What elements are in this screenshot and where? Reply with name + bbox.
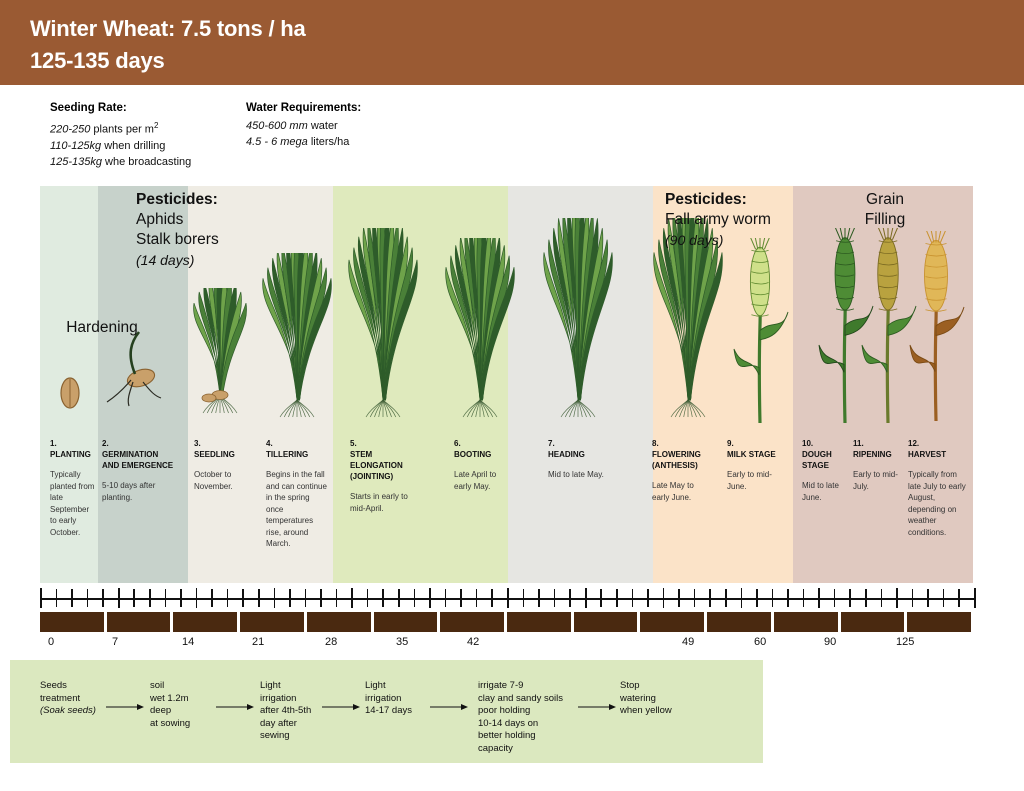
- timeline-ruler: 071421283542496090125: [0, 588, 1024, 650]
- irrigation-step-6: Stopwateringwhen yellow: [620, 680, 672, 718]
- irrigation-step-3: Lightirrigationafter 4th-5thday aftersew…: [260, 680, 311, 743]
- ruler-tick: [772, 589, 774, 607]
- ruler-tick: [118, 588, 120, 608]
- irrigation-step-line: treatment: [40, 693, 96, 706]
- ruler-tick: [694, 589, 696, 607]
- ruler-tick: [149, 589, 151, 607]
- stage-column-3[interactable]: 3.SEEDLINGOctober to November.: [194, 438, 262, 492]
- ruler-block: [173, 612, 237, 632]
- ruler-tick: [818, 588, 820, 608]
- stage-description: Mid to late May.: [548, 469, 610, 481]
- stage-column-10[interactable]: 10.DOUGH STAGEMid to late June.: [802, 438, 848, 503]
- ruler-tick: [974, 588, 976, 608]
- ruler-tick: [538, 589, 540, 607]
- irrigation-step-line: day after: [260, 718, 311, 731]
- stage-number: 8.: [652, 438, 710, 449]
- irrigation-step-4: Lightirrigation14-17 days: [365, 680, 412, 718]
- infographic-page: Winter Wheat: 7.5 tons / ha 125-135 days…: [0, 0, 1024, 791]
- ruler-tick: [647, 589, 649, 607]
- ruler-tick: [491, 589, 493, 607]
- stage-name: RIPENING: [853, 449, 901, 460]
- seeding-rate-line-2: 110-125kg when drilling: [50, 138, 191, 154]
- ruler-tick: [305, 589, 307, 607]
- ruler-tick: [445, 589, 447, 607]
- stage-column-2[interactable]: 2.GERMINATION AND EMERGENCE5-10 days aft…: [102, 438, 174, 503]
- ruler-tick: [927, 589, 929, 607]
- stage-description: October to November.: [194, 469, 262, 492]
- stage-column-12[interactable]: 12.HARVESTTypically from late July to ea…: [908, 438, 966, 538]
- irrigation-step-line: at sowing: [150, 718, 190, 731]
- ruler-block: [374, 612, 438, 632]
- pesticides-late-note: (90 days): [665, 230, 771, 250]
- flow-arrow-icon: [578, 699, 616, 709]
- ruler-day-label: 125: [896, 636, 914, 648]
- grain-filling-line1: Grain: [820, 190, 950, 210]
- ruler-tick: [227, 589, 229, 607]
- ruler-block: [574, 612, 638, 632]
- water-requirements-title: Water Requirements:: [246, 100, 361, 116]
- ruler-tick: [943, 589, 945, 607]
- irrigation-step-line: irrigation: [260, 693, 311, 706]
- stage-number: 3.: [194, 438, 262, 449]
- ruler-tick: [616, 589, 618, 607]
- ruler-tick: [320, 589, 322, 607]
- stage-description: 5-10 days after planting.: [102, 480, 174, 503]
- ruler-tick: [289, 589, 291, 607]
- ruler-tick: [367, 589, 369, 607]
- flow-arrow-icon: [216, 699, 254, 709]
- ruler-block: [774, 612, 838, 632]
- flow-arrow-icon: [430, 699, 468, 709]
- ruler-tick: [196, 588, 198, 608]
- ruler-tick: [180, 589, 182, 607]
- callout-grain-filling: Grain Filling: [820, 190, 950, 230]
- ruler-tick: [40, 588, 42, 608]
- illustration-stem-elongation-jointing: [331, 228, 435, 428]
- ruler-tick: [632, 589, 634, 607]
- pesticides-early-line1: Aphids: [136, 210, 219, 230]
- stage-name: MILK STAGE: [727, 449, 785, 460]
- stage-column-7[interactable]: 7.HEADINGMid to late May.: [548, 438, 610, 481]
- water-requirements-block: Water Requirements: 450-600 mm water 4.5…: [246, 100, 361, 150]
- ruler-day-label: 49: [682, 636, 694, 648]
- spec-section: Seeding Rate: 220-250 plants per m2 110-…: [0, 100, 1024, 170]
- irrigation-step-line: watering: [620, 693, 672, 706]
- ruler-day-label: 21: [252, 636, 264, 648]
- ruler-tick: [242, 589, 244, 607]
- stage-column-6[interactable]: 6.BOOTINGLate April to early May.: [454, 438, 509, 492]
- irrigation-step-line: when yellow: [620, 705, 672, 718]
- ruler-tick: [133, 589, 135, 607]
- ruler-tick: [912, 589, 914, 607]
- irrigation-step-line: wet 1.2m: [150, 693, 190, 706]
- ruler-tick: [102, 589, 104, 607]
- stage-number: 2.: [102, 438, 174, 449]
- ruler-tick-bar: [40, 588, 974, 608]
- grain-filling-line2: Filling: [820, 210, 950, 230]
- irrigation-step-line: clay and sandy soils: [478, 693, 563, 706]
- seeding-rate-title: Seeding Rate:: [50, 100, 191, 116]
- stage-number: 1.: [50, 438, 95, 449]
- irrigation-step-line: poor holding: [478, 705, 563, 718]
- stage-description: Late April to early May.: [454, 469, 509, 492]
- ruler-tick: [600, 589, 602, 607]
- stage-description: Late May to early June.: [652, 480, 710, 503]
- stage-description: Typically planted from late September to…: [50, 469, 95, 538]
- water-requirements-line-2: 4.5 - 6 mega liters/ha: [246, 134, 361, 150]
- ruler-tick: [476, 589, 478, 607]
- ruler-tick: [87, 589, 89, 607]
- stage-name: BOOTING: [454, 449, 509, 460]
- stage-description: Begins in the fall and can continue in t…: [266, 469, 328, 550]
- ruler-block: [440, 612, 504, 632]
- stage-description: Starts in early to mid-April.: [350, 491, 412, 514]
- ruler-tick: [429, 588, 431, 608]
- illustration-heading: [526, 218, 630, 428]
- irrigation-step-line: 14-17 days: [365, 705, 412, 718]
- irrigation-step-line: irrigate 7-9: [478, 680, 563, 693]
- ruler-block: [107, 612, 171, 632]
- irrigation-step-line: after 4th-5th: [260, 705, 311, 718]
- ruler-block: [240, 612, 304, 632]
- ruler-day-label: 90: [824, 636, 836, 648]
- callout-pesticides-late: Pesticides: Fall army worm (90 days): [665, 190, 771, 250]
- ruler-tick: [709, 589, 711, 607]
- irrigation-step-note: (Soak seeds): [40, 705, 96, 718]
- stage-number: 6.: [454, 438, 509, 449]
- ruler-day-label: 42: [467, 636, 479, 648]
- ruler-tick: [398, 589, 400, 607]
- ruler-tick: [351, 588, 353, 608]
- ruler-tick: [382, 589, 384, 607]
- ruler-day-label: 14: [182, 636, 194, 648]
- ruler-tick: [569, 589, 571, 607]
- callout-pesticides-early: Pesticides: Aphids Stalk borers (14 days…: [136, 190, 219, 270]
- callout-hardening-label: Hardening: [56, 318, 148, 338]
- ruler-tick: [865, 589, 867, 607]
- stage-description: Typically from late July to early August…: [908, 469, 966, 538]
- stage-name: TILLERING: [266, 449, 328, 460]
- stage-number: 7.: [548, 438, 610, 449]
- ruler-tick: [958, 589, 960, 607]
- pesticides-late-line1: Fall army worm: [665, 210, 771, 230]
- irrigation-step-5: irrigate 7-9clay and sandy soilspoor hol…: [478, 680, 563, 755]
- ruler-day-label: 28: [325, 636, 337, 648]
- ruler-day-labels: 071421283542496090125: [0, 636, 1024, 652]
- irrigation-step-line: Stop: [620, 680, 672, 693]
- ruler-tick: [663, 588, 665, 608]
- stage-name: FLOWERING (ANTHESIS): [652, 449, 710, 471]
- ruler-tick: [258, 589, 260, 607]
- pesticides-early-title: Pesticides:: [136, 190, 219, 210]
- seeding-rate-block: Seeding Rate: 220-250 plants per m2 110-…: [50, 100, 191, 170]
- ruler-tick: [803, 589, 805, 607]
- irrigation-step-line: better holding: [478, 730, 563, 743]
- stage-number: 11.: [853, 438, 901, 449]
- header-title-line2: 125-135 days: [30, 48, 165, 74]
- illustration-milk-stage: [730, 238, 790, 423]
- ruler-block: [841, 612, 905, 632]
- irrigation-step-line: Seeds: [40, 680, 96, 693]
- illustration-booting: [430, 238, 530, 428]
- ruler-tick: [274, 588, 276, 608]
- ruler-tick: [71, 589, 73, 607]
- pesticides-early-note: (14 days): [136, 250, 219, 270]
- ruler-tick: [414, 589, 416, 607]
- stage-column-4[interactable]: 4.TILLERINGBegins in the fall and can co…: [266, 438, 328, 550]
- irrigation-step-line: soil: [150, 680, 190, 693]
- irrigation-step-line: irrigation: [365, 693, 412, 706]
- stage-number: 5.: [350, 438, 412, 449]
- ruler-tick: [756, 589, 758, 607]
- ruler-tick: [881, 589, 883, 607]
- pesticides-early-line2: Stalk borers: [136, 230, 219, 250]
- stage-number: 10.: [802, 438, 848, 449]
- ruler-tick: [585, 588, 587, 608]
- stage-name: STEM ELONGATION (JOINTING): [350, 449, 412, 482]
- ruler-day-label: 35: [396, 636, 408, 648]
- stage-number: 9.: [727, 438, 785, 449]
- stage-description: Mid to late June.: [802, 480, 848, 503]
- ruler-tick: [165, 589, 167, 607]
- ruler-tick: [896, 588, 898, 608]
- seeding-rate-line-3: 125-135kg whe broadcasting: [50, 154, 191, 170]
- ruler-tick: [725, 589, 727, 607]
- ruler-tick: [849, 589, 851, 607]
- irrigation-flow-panel: Seedstreatment(Soak seeds)soilwet 1.2mde…: [10, 660, 763, 763]
- ruler-block: [507, 612, 571, 632]
- seeding-rate-line-1: 220-250 plants per m2: [50, 118, 191, 138]
- ruler-block: [907, 612, 971, 632]
- stage-column-5[interactable]: 5.STEM ELONGATION (JOINTING)Starts in ea…: [350, 438, 412, 514]
- ruler-tick: [787, 589, 789, 607]
- irrigation-step-line: 10-14 days on: [478, 718, 563, 731]
- pesticides-late-title: Pesticides:: [665, 190, 771, 210]
- ruler-tick: [741, 588, 743, 608]
- ruler-tick: [554, 589, 556, 607]
- stage-number: 12.: [908, 438, 966, 449]
- irrigation-step-line: capacity: [478, 743, 563, 756]
- header-title-line1: Winter Wheat: 7.5 tons / ha: [30, 16, 306, 42]
- ruler-block: [40, 612, 104, 632]
- stage-name: HARVEST: [908, 449, 966, 460]
- ruler-day-label: 0: [48, 636, 54, 648]
- stage-name: SEEDLING: [194, 449, 262, 460]
- stage-description: Early to mid-June.: [727, 469, 785, 492]
- stage-number: 4.: [266, 438, 328, 449]
- stage-name: HEADING: [548, 449, 610, 460]
- ruler-block: [640, 612, 704, 632]
- ruler-tick: [460, 589, 462, 607]
- ruler-day-label: 60: [754, 636, 766, 648]
- flow-arrow-icon: [322, 699, 360, 709]
- ruler-tick: [211, 589, 213, 607]
- ruler-block: [307, 612, 371, 632]
- ruler-block: [707, 612, 771, 632]
- ruler-tick: [507, 588, 509, 608]
- irrigation-step-line: deep: [150, 705, 190, 718]
- illustration-harvest: [900, 231, 972, 421]
- ruler-block-bar: [40, 612, 974, 632]
- irrigation-step-line: Light: [365, 680, 412, 693]
- ruler-tick: [336, 589, 338, 607]
- ruler-tick: [834, 589, 836, 607]
- ruler-tick: [523, 589, 525, 607]
- stage-column-9[interactable]: 9.MILK STAGEEarly to mid-June.: [727, 438, 785, 492]
- stage-column-1[interactable]: 1.PLANTINGTypically planted from late Se…: [50, 438, 95, 538]
- stage-column-11[interactable]: 11.RIPENINGEarly to mid-July.: [853, 438, 901, 492]
- stage-name: DOUGH STAGE: [802, 449, 848, 471]
- irrigation-step-line: sewing: [260, 730, 311, 743]
- irrigation-step-line: Light: [260, 680, 311, 693]
- ruler-tick: [56, 589, 58, 607]
- irrigation-step-1: Seedstreatment(Soak seeds): [40, 680, 96, 718]
- flow-arrow-icon: [106, 699, 144, 709]
- stage-column-8[interactable]: 8.FLOWERING (ANTHESIS)Late May to early …: [652, 438, 710, 503]
- stage-description: Early to mid-July.: [853, 469, 901, 492]
- stage-name: PLANTING: [50, 449, 95, 460]
- header-banner: Winter Wheat: 7.5 tons / ha 125-135 days: [0, 0, 1024, 85]
- irrigation-step-2: soilwet 1.2mdeepat sowing: [150, 680, 190, 730]
- stage-name: GERMINATION AND EMERGENCE: [102, 449, 174, 471]
- water-requirements-line-1: 450-600 mm water: [246, 118, 361, 134]
- ruler-tick: [678, 589, 680, 607]
- callout-hardening: Hardening: [56, 318, 148, 338]
- ruler-day-label: 7: [112, 636, 118, 648]
